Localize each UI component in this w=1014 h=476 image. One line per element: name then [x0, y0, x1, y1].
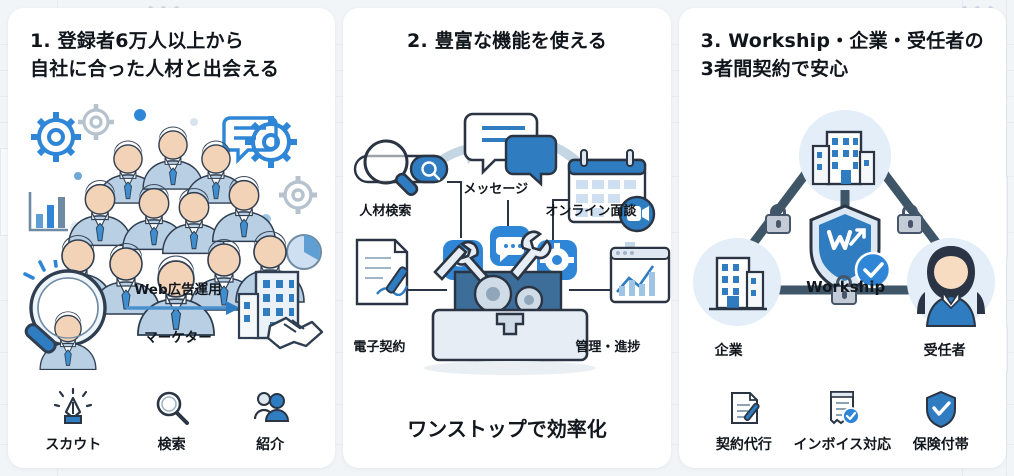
feature-invoice[interactable]: インボイス対応: [794, 388, 891, 454]
contract-document-icon: [357, 240, 408, 304]
label-message: メッセージ: [463, 178, 528, 197]
scout-pen-icon: [53, 388, 93, 428]
card-2-title-line1: 2. 豊富な機能を使える: [353, 28, 660, 56]
card-2-title: 2. 豊富な機能を使える: [343, 28, 670, 56]
card-1-title-line1: 1. 登録者6万人以上から: [30, 28, 325, 56]
search-magnifier-icon: [152, 388, 192, 428]
gear-icon: [245, 116, 297, 168]
infographic-canvas: 1. 登録者6万人以上から 自社に合った人材と出会える: [0, 0, 1014, 476]
feature-search[interactable]: 検索: [123, 388, 220, 454]
label-company: 企業: [715, 340, 743, 360]
card-3-feature-row: 契約代行 インボイス対応: [679, 388, 1006, 454]
card-3-title: 3. Workship・企業・受任者の 3者間契約で安心: [679, 28, 1006, 83]
card-features[interactable]: 2. 豊富な機能を使える: [343, 8, 670, 468]
card-1-title: 1. 登録者6万人以上から 自社に合った人材と出会える: [8, 28, 335, 83]
chat-bubbles-icon: [465, 114, 556, 184]
card-1-feature-row: スカウト 検索: [8, 388, 335, 454]
card-registrants[interactable]: 1. 登録者6万人以上から 自社に合った人材と出会える: [8, 8, 335, 468]
card-3-title-line1: 3. Workship・企業・受任者の: [701, 28, 996, 56]
feature-referral[interactable]: 紹介: [221, 388, 318, 454]
lock-icon: [897, 204, 923, 234]
feature-scout-label: スカウト: [45, 434, 101, 454]
decor-dot: [134, 109, 146, 121]
label-management-progress: 管理・進捗: [575, 336, 640, 355]
label-talent-search: 人材検索: [359, 200, 411, 219]
building-with-handshake: [239, 272, 322, 348]
magnifier-with-person: [24, 260, 105, 370]
marketer-label: マーケター: [118, 326, 238, 346]
workship-brand-label: Workship: [791, 278, 901, 296]
label-contractor: 受任者: [924, 340, 966, 360]
feature-insurance[interactable]: 保険付帯: [892, 388, 989, 454]
feature-contract-proxy-label: 契約代行: [716, 434, 772, 454]
gear-icon: [31, 112, 81, 162]
flow-arrow: [126, 301, 240, 315]
lock-icon: [765, 204, 791, 234]
contract-proxy-icon: [724, 388, 764, 428]
card-1-title-line2: 自社に合った人材と出会える: [30, 56, 325, 84]
feature-search-label: 検索: [158, 434, 186, 454]
label-online-interview: オンライン面談: [545, 200, 636, 219]
decor-dot: [74, 172, 82, 180]
feature-invoice-label: インボイス対応: [794, 434, 892, 454]
insurance-shield-icon: [921, 388, 961, 428]
card-2-footer: ワンストップで効率化: [343, 413, 670, 442]
gear-icon: [78, 104, 114, 140]
search-bar-icon: [355, 141, 447, 197]
referral-people-icon: [250, 388, 290, 428]
feature-scout[interactable]: スカウト: [24, 388, 121, 454]
card-3-title-line2: 3者間契約で安心: [701, 56, 996, 84]
feature-contract-proxy[interactable]: 契約代行: [695, 388, 792, 454]
label-digital-contract: 電子契約: [353, 336, 405, 355]
feature-insurance-label: 保険付帯: [913, 434, 969, 454]
feature-referral-label: 紹介: [256, 434, 284, 454]
invoice-check-icon: [822, 388, 862, 428]
dashboard-chart-icon: [611, 248, 669, 302]
card-three-party-contract[interactable]: 3. Workship・企業・受任者の 3者間契約で安心: [679, 8, 1006, 468]
web-ad-label: Web広告運用: [118, 278, 238, 298]
decor-dot: [190, 118, 198, 126]
bar-chart-icon: [30, 192, 68, 230]
gear-icon: [279, 176, 317, 214]
